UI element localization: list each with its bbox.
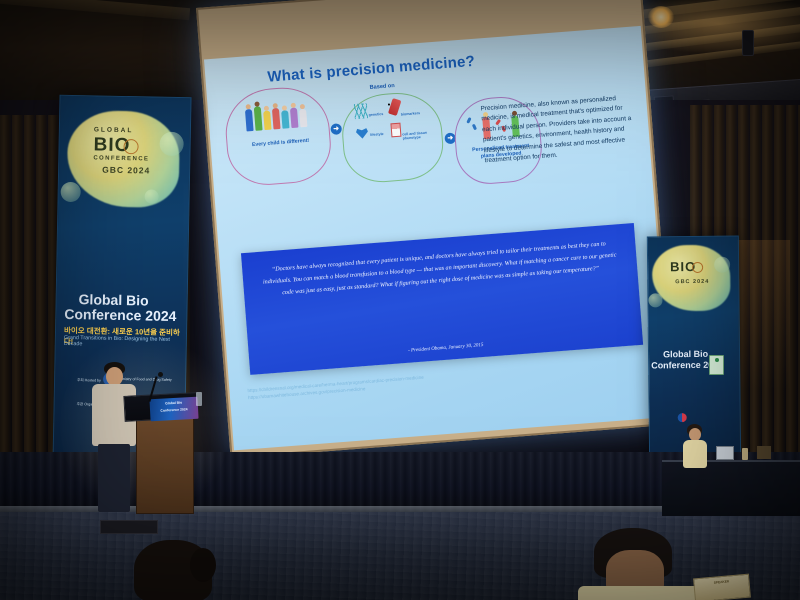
speaker-presenter <box>88 362 140 512</box>
banner-right-korean <box>651 373 652 379</box>
cell-tissue-phenotype-icon <box>390 123 401 138</box>
projection-screen: What is precision medicine? Every child <box>196 0 676 467</box>
audience-member-left <box>128 540 226 600</box>
banner-right-title-line1: Global Bio <box>663 349 708 360</box>
quote-box: “Doctors have always recognized that eve… <box>241 223 643 375</box>
quote-text: “Doctors have always recognized that eve… <box>258 238 622 301</box>
moderator <box>682 424 708 466</box>
foreground-table-equipment <box>100 520 158 534</box>
banner-logo-global: GLOBAL <box>94 126 134 134</box>
conference-photo-scene: What is precision medicine? Every child <box>0 0 800 600</box>
footnote-urls: https://childrensnal.org/medical-care/he… <box>247 374 424 402</box>
exit-sign <box>709 355 724 375</box>
microphone-icon <box>158 372 163 377</box>
banner-logo-conference: CONFERENCE <box>93 155 149 162</box>
presentation-slide: What is precision medicine? Every child <box>204 26 671 450</box>
banner-right-mfds-icon <box>678 413 687 422</box>
table-box <box>757 446 771 459</box>
water-bottle <box>196 392 202 406</box>
diagram-arrow-1: ➜ <box>330 123 342 135</box>
podium-sign-line2: Conference 2024 <box>150 404 198 414</box>
banner-logo-gbc: GBC 2024 <box>102 165 150 176</box>
banner-title-line2: Conference 2024 <box>64 307 176 325</box>
slide-title: What is precision medicine? <box>267 53 476 86</box>
children-figures-group <box>243 98 312 139</box>
podium-sign: Global Bio Conference 2024 <box>149 397 198 421</box>
speaker-namecard: SPEAKER <box>693 574 751 600</box>
ceiling-projector <box>742 30 754 56</box>
diagram-based-on-heading: Based on <box>369 83 395 91</box>
diagram-node-3-loop <box>388 103 390 105</box>
banner-right-logo-gbc: GBC 2024 <box>675 279 709 285</box>
laptop[interactable] <box>716 446 734 460</box>
slide-body-text: Precision medicine, also known as person… <box>480 93 634 167</box>
banner-right-logo-swirl <box>692 262 703 273</box>
head-table <box>662 460 800 516</box>
table-bottle <box>742 448 748 460</box>
genetics-icon <box>354 103 368 119</box>
quote-attribution: - President Obama, January 30, 2015 <box>249 331 642 366</box>
ceiling-lamp <box>648 6 674 28</box>
